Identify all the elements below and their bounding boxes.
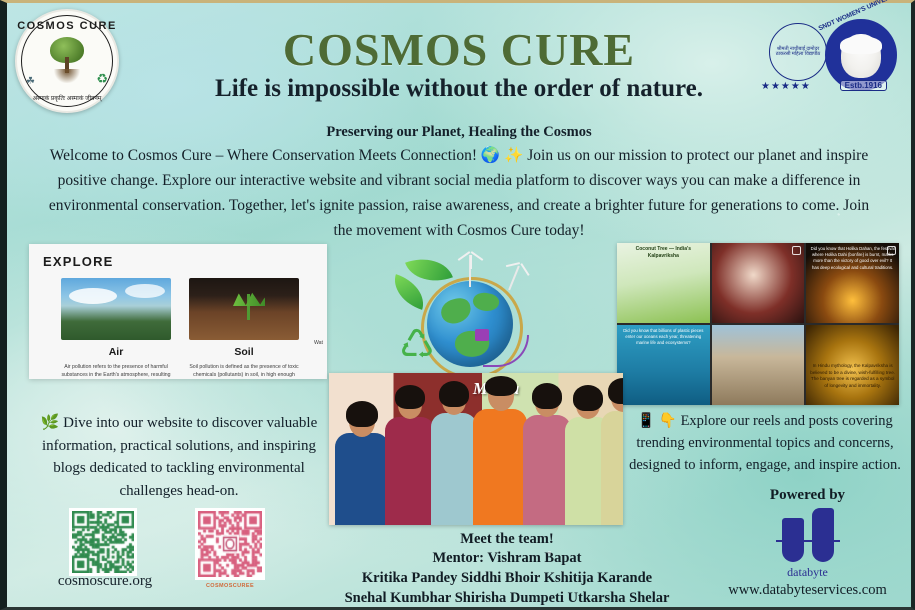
qr-canvas — [72, 511, 134, 573]
instagram-post-coconut-tree[interactable]: Coconut Tree — India's Kalpavriksha — [617, 243, 710, 323]
poster-canvas: COSMOS CURE ♻ ☘ अस्माकं प्रकृतिः अस्माकं… — [0, 0, 915, 610]
instagram-post-bonfire[interactable]: Did you know that Holika Dahan, the fest… — [806, 243, 899, 323]
seedling-soil-photo — [189, 278, 299, 340]
person-figure-mentor — [473, 409, 527, 525]
explore-item-water-clipped: Wat — [314, 340, 323, 346]
person-figure — [335, 433, 389, 525]
databyte-name: databyte — [720, 565, 895, 580]
website-url-label: cosmoscure.org — [45, 573, 165, 590]
website-qr-code[interactable] — [69, 508, 137, 576]
mobile-phone-icon: 📱 — [637, 413, 655, 429]
team-group-photo: Mania — [329, 373, 623, 525]
instagram-post-grid[interactable]: Coconut Tree — India's Kalpavriksha Did … — [617, 243, 899, 405]
social-blurb: 📱 👇 Explore our reels and posts covering… — [619, 411, 911, 476]
qr-canvas — [198, 511, 262, 577]
team-heading: Meet the team! — [307, 531, 707, 548]
team-members-row-2: Snehal Kumbhar Shirisha Dumpeti Utkarsha… — [307, 590, 707, 607]
herb-leaf-icon: 🌿 — [41, 413, 60, 431]
recycle-icon: ♺ — [399, 325, 435, 365]
team-members-row-1: Kritika Pandey Siddhi Bhoir Kshitija Kar… — [307, 570, 707, 587]
explore-title: EXPLORE — [43, 254, 114, 269]
instagram-handle-label: COSMOSCUREE — [198, 583, 262, 589]
website-blurb-text: Dive into our website to discover valuab… — [42, 415, 317, 499]
explore-item-desc: Air pollution refers to the presence of … — [61, 363, 171, 379]
hand-pointing-icon: 👇 — [659, 413, 677, 429]
intro-part-1: Welcome to Cosmos Cure – Where Conservat… — [50, 147, 477, 164]
team-mentor: Mentor: Vishram Bapat — [307, 550, 707, 567]
explore-item-soil[interactable]: Soil Soil pollution is defined as the pr… — [189, 278, 299, 379]
post-caption: Coconut Tree — India's Kalpavriksha — [620, 246, 707, 261]
leaf-icon — [388, 274, 430, 310]
powered-by-section: Powered by databyte www.databyteservices… — [720, 487, 895, 599]
post-caption: In Hindu mythology, the Kalpavriksha is … — [809, 363, 896, 390]
post-caption: Did you know that billions of plastic pi… — [620, 328, 707, 347]
person-figure — [431, 413, 477, 525]
databyte-logo — [778, 508, 838, 564]
mountain-sky-photo — [61, 278, 171, 340]
website-blurb: 🌿 Dive into our website to discover valu… — [31, 411, 327, 502]
wind-turbine-icon — [469, 255, 471, 287]
globe-icon: 🌍 — [481, 146, 500, 164]
explore-item-label: Soil — [189, 346, 299, 358]
post-caption: Did you know that Holika Dahan, the fest… — [809, 246, 896, 271]
person-figure — [523, 415, 571, 525]
instagram-post-couple[interactable] — [712, 243, 805, 323]
powered-by-label: Powered by — [720, 487, 895, 504]
instagram-post-marine-life[interactable]: Did you know that billions of plastic pi… — [617, 325, 710, 405]
earth-recycling-illustration: ♺ — [387, 251, 557, 386]
explore-item-air[interactable]: Air Air pollution refers to the presence… — [61, 278, 171, 379]
carousel-icon — [792, 246, 801, 255]
instagram-post-river-ghat[interactable] — [712, 325, 805, 405]
person-figure — [385, 417, 435, 525]
explore-item-label: Air — [61, 346, 171, 358]
explore-card[interactable]: EXPLORE Air Air pollution refers to the … — [29, 244, 327, 379]
meet-the-team: Meet the team! Mentor: Vishram Bapat Kri… — [307, 531, 707, 607]
power-cord-icon — [483, 335, 529, 367]
explore-item-desc: Soil pollution is defined as the presenc… — [189, 363, 299, 379]
databyte-url[interactable]: www.databyteservices.com — [720, 582, 895, 599]
intro-paragraph: Welcome to Cosmos Cure – Where Conservat… — [45, 143, 873, 243]
instagram-qr-code[interactable]: COSMOSCUREE — [195, 508, 265, 580]
tagline: Life is impossible without the order of … — [7, 75, 911, 103]
subheading: Preserving our Planet, Healing the Cosmo… — [7, 124, 911, 141]
carousel-icon — [887, 246, 896, 255]
page-title: COSMOS CURE — [7, 23, 911, 76]
instagram-post-banyan-tree[interactable]: In Hindu mythology, the Kalpavriksha is … — [806, 325, 899, 405]
wind-turbine-icon — [508, 266, 520, 291]
sparkles-icon: ✨ — [504, 146, 523, 164]
